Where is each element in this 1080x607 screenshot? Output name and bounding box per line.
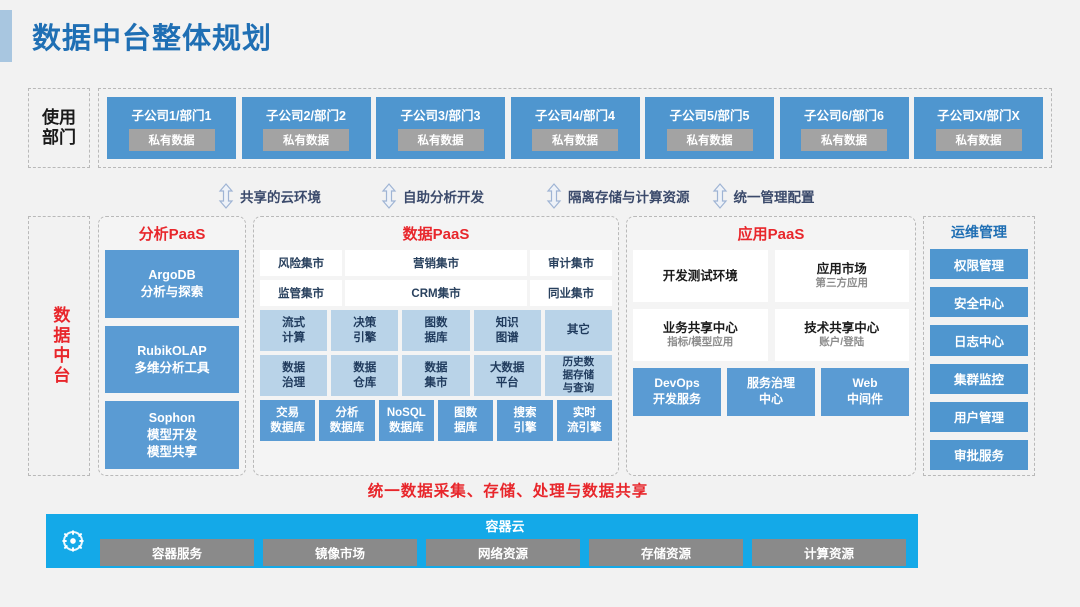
unified-data-banner-text: 统一数据采集、存储、处理与数据共享 [368, 479, 649, 501]
department-card-title: 子公司2/部门2 [266, 105, 346, 124]
department-card-chip: 私有数据 [398, 129, 484, 151]
tile-line2: 引擎 [353, 332, 376, 344]
connector-label: 自助分析开发 [403, 186, 484, 206]
data-capability-tile[interactable]: 流式计算 [260, 310, 327, 351]
app-paas-card[interactable]: 业务共享中心 指标/模型应用 [633, 309, 768, 361]
tile-line2: 据存储 [563, 369, 595, 381]
app-tile-line2: 中间件 [847, 392, 883, 408]
unified-data-banner: 统一数据采集、存储、处理与数据共享 [98, 478, 918, 502]
data-mart[interactable]: 审计集市 [530, 250, 612, 276]
departments-label-text: 使用 部门 [42, 108, 76, 147]
connector-row: 共享的云环境 自助分析开发 隔离存储与计算资源 统一管理配置 [100, 180, 1000, 212]
tile-line1: 数据 [353, 362, 376, 374]
analysis-item-sub: 分析与探索 [141, 284, 204, 301]
container-cloud-chip[interactable]: 存储资源 [589, 539, 743, 566]
analysis-item-name: ArgoDB [148, 267, 195, 284]
app-paas-tile-row: DevOps 开发服务 服务治理 中心 Web 中间件 [633, 368, 909, 416]
ops-item[interactable]: 日志中心 [930, 325, 1028, 355]
department-card[interactable]: 子公司6/部门6 私有数据 [780, 97, 909, 159]
department-card[interactable]: 子公司2/部门2 私有数据 [242, 97, 371, 159]
app-paas-card-row-2: 业务共享中心 指标/模型应用 技术共享中心 账户/登陆 [633, 309, 909, 361]
tile-line1: 分析 [335, 407, 358, 419]
container-cloud-body: 容器云 容器服务 镜像市场 网络资源 存储资源 计算资源 [100, 512, 918, 570]
tile-line2: 引擎 [513, 422, 536, 434]
tile-line2: 数据库 [389, 422, 424, 434]
connector-item: 共享的云环境 [218, 183, 321, 209]
tile-line1: 交易 [276, 407, 299, 419]
platform-region: 数据中台 分析PaaS ArgoDB 分析与探索 RubikOLAP 多维分析工… [28, 216, 1052, 476]
app-card-name: 应用市场 [817, 261, 867, 277]
tile-line2: 仓库 [353, 377, 376, 389]
container-cloud-chip[interactable]: 容器服务 [100, 539, 254, 566]
tile-line3: 与查询 [563, 382, 595, 394]
tile-line1: 图数 [424, 317, 447, 329]
container-cloud-chip[interactable]: 网络资源 [426, 539, 580, 566]
department-card[interactable]: 子公司5/部门5 私有数据 [645, 97, 774, 159]
tile-line2: 据库 [454, 422, 477, 434]
department-card-chip: 私有数据 [667, 129, 753, 151]
department-card-title: 子公司X/部门X [937, 105, 1020, 124]
data-paas-title: 数据PaaS [260, 223, 612, 244]
data-mart-row-2: 监管集市 CRM集市 同业集市 [260, 280, 612, 306]
analysis-item-sub: 多维分析工具 [134, 360, 209, 377]
tile-line1: 数据 [424, 362, 447, 374]
tile-line1: 决策 [353, 317, 376, 329]
tile-line1: 历史数 [563, 356, 595, 368]
departments-band: 使用 部门 子公司1/部门1 私有数据 子公司2/部门2 私有数据 子公司3/部… [28, 88, 1052, 168]
department-card-title: 子公司3/部门3 [401, 105, 481, 124]
department-card[interactable]: 子公司4/部门4 私有数据 [511, 97, 640, 159]
tile-line2: 集市 [424, 377, 447, 389]
department-card-title: 子公司1/部门1 [132, 105, 212, 124]
container-cloud-chip[interactable]: 计算资源 [752, 539, 906, 566]
title-accent-bar [0, 10, 12, 62]
app-paas-tile[interactable]: DevOps 开发服务 [633, 368, 721, 416]
data-mart[interactable]: CRM集市 [345, 280, 527, 306]
data-capability-row-1: 流式计算 决策引擎 图数据库 知识图谱 其它 [260, 310, 612, 351]
tile-line2: 图谱 [496, 332, 519, 344]
tile-line2: 治理 [282, 377, 305, 389]
tile-line2: 流引擎 [567, 422, 602, 434]
data-mart[interactable]: 同业集市 [530, 280, 612, 306]
platform-side-label-text: 数据中台 [50, 306, 69, 386]
connector-label: 共享的云环境 [240, 186, 321, 206]
app-card-name: 业务共享中心 [663, 320, 738, 336]
data-paas-group: 数据PaaS 风险集市 营销集市 审计集市 监管集市 CRM集市 同业集市 流式… [253, 216, 619, 476]
gear-icon [46, 528, 100, 554]
ops-management-group: 运维管理 权限管理 安全中心 日志中心 集群监控 用户管理 审批服务 [923, 216, 1035, 476]
connector-label: 统一管理配置 [734, 186, 815, 206]
data-capability-tile[interactable]: 知识图谱 [474, 310, 541, 351]
data-capability-tile[interactable]: 数据仓库 [331, 355, 398, 396]
app-paas-card[interactable]: 技术共享中心 账户/登陆 [775, 309, 910, 361]
analysis-paas-items: ArgoDB 分析与探索 RubikOLAP 多维分析工具 Sophon 模型开… [105, 250, 239, 469]
app-card-sub: 账户/登陆 [819, 336, 864, 350]
app-paas-card[interactable]: 开发测试环境 [633, 250, 768, 302]
page-title: 数据中台整体规划 [32, 15, 272, 57]
departments-label-line2: 部门 [42, 128, 76, 148]
data-mart-row-1: 风险集市 营销集市 审计集市 [260, 250, 612, 276]
app-card-sub: 第三方应用 [816, 277, 869, 291]
ops-item[interactable]: 审批服务 [930, 440, 1028, 470]
department-card[interactable]: 子公司1/部门1 私有数据 [107, 97, 236, 159]
gear-icon-svg [60, 528, 86, 554]
app-paas-title: 应用PaaS [633, 223, 909, 244]
tile-line1: 其它 [567, 324, 590, 336]
departments-label: 使用 部门 [28, 88, 90, 168]
tile-line1: NoSQL [387, 407, 426, 419]
tile-line1: 知识 [496, 317, 519, 329]
connector-label: 隔离存储与计算资源 [568, 186, 690, 206]
ops-item[interactable]: 安全中心 [930, 287, 1028, 317]
analysis-item-sub2: 模型共享 [147, 444, 197, 461]
app-paas-card-row-1: 开发测试环境 应用市场 第三方应用 [633, 250, 909, 302]
department-card-title: 子公司4/部门4 [535, 105, 615, 124]
slide-canvas: 数据中台整体规划 使用 部门 子公司1/部门1 私有数据 子公司2/部门2 私有… [0, 0, 1080, 607]
container-cloud-title: 容器云 [485, 516, 524, 535]
data-capability-tile[interactable]: 图数据库 [402, 310, 469, 351]
data-storage-tile[interactable]: 图数据库 [438, 400, 493, 441]
double-arrow-icon [381, 183, 397, 209]
department-card-chip: 私有数据 [801, 129, 887, 151]
platform-columns: 分析PaaS ArgoDB 分析与探索 RubikOLAP 多维分析工具 Sop… [98, 216, 1052, 476]
department-card[interactable]: 子公司X/部门X 私有数据 [914, 97, 1043, 159]
ops-item[interactable]: 权限管理 [930, 249, 1028, 279]
app-tile-line1: 服务治理 [747, 376, 795, 392]
tile-line2: 数据库 [270, 422, 305, 434]
container-cloud-chip[interactable]: 镜像市场 [263, 539, 417, 566]
connector-item: 统一管理配置 [712, 183, 815, 209]
tile-line1: 大数据 [490, 362, 525, 374]
app-card-name: 开发测试环境 [663, 268, 738, 284]
app-paas-group: 应用PaaS 开发测试环境 应用市场 第三方应用 业务共享中心 指标/模型应用 [626, 216, 916, 476]
data-mart[interactable]: 风险集市 [260, 250, 342, 276]
data-capability-tile[interactable]: 决策引擎 [331, 310, 398, 351]
data-mart[interactable]: 监管集市 [260, 280, 342, 306]
double-arrow-icon [546, 183, 562, 209]
data-capability-tile[interactable]: 大数据平台 [474, 355, 541, 396]
tile-line2: 计算 [282, 332, 305, 344]
department-card[interactable]: 子公司3/部门3 私有数据 [376, 97, 505, 159]
app-paas-tile[interactable]: Web 中间件 [821, 368, 909, 416]
tile-line2: 数据库 [330, 422, 365, 434]
container-cloud-chips: 容器服务 镜像市场 网络资源 存储资源 计算资源 [100, 539, 910, 570]
ops-item[interactable]: 用户管理 [930, 402, 1028, 432]
container-cloud-bar: 容器云 容器服务 镜像市场 网络资源 存储资源 计算资源 [46, 514, 918, 568]
department-card-chip: 私有数据 [263, 129, 349, 151]
data-capability-row-2: 数据治理 数据仓库 数据集市 大数据平台 历史数据存储与查询 [260, 355, 612, 396]
tile-line1: 流式 [282, 317, 305, 329]
platform-side-label: 数据中台 [28, 216, 90, 476]
tile-line1: 图数 [454, 407, 477, 419]
department-card-chip: 私有数据 [129, 129, 215, 151]
tile-line1: 搜索 [513, 407, 536, 419]
analysis-paas-item[interactable]: Sophon 模型开发 模型共享 [105, 401, 239, 469]
app-tile-line1: Web [852, 376, 877, 392]
data-capability-tile[interactable]: 其它 [545, 310, 612, 351]
title-bar: 数据中台整体规划 [0, 8, 272, 64]
data-storage-tile[interactable]: 交易数据库 [260, 400, 315, 441]
connector-item: 隔离存储与计算资源 [546, 183, 690, 209]
tile-line2: 据库 [424, 332, 447, 344]
analysis-paas-title: 分析PaaS [105, 223, 239, 244]
data-capability-tile[interactable]: 历史数据存储与查询 [545, 355, 612, 396]
department-card-title: 子公司6/部门6 [804, 105, 884, 124]
data-storage-tile[interactable]: 搜索引擎 [497, 400, 552, 441]
analysis-paas-item[interactable]: ArgoDB 分析与探索 [105, 250, 239, 318]
data-mart[interactable]: 营销集市 [345, 250, 527, 276]
tile-line1: 数据 [282, 362, 305, 374]
double-arrow-icon [712, 183, 728, 209]
app-card-name: 技术共享中心 [804, 320, 879, 336]
double-arrow-icon [218, 183, 234, 209]
departments-cards: 子公司1/部门1 私有数据 子公司2/部门2 私有数据 子公司3/部门3 私有数… [98, 88, 1052, 168]
app-tile-line2: 中心 [759, 392, 783, 408]
analysis-item-sub: 模型开发 [147, 427, 197, 444]
ops-management-items: 权限管理 安全中心 日志中心 集群监控 用户管理 审批服务 [930, 249, 1028, 470]
analysis-paas-group: 分析PaaS ArgoDB 分析与探索 RubikOLAP 多维分析工具 Sop… [98, 216, 246, 476]
department-card-chip: 私有数据 [532, 129, 618, 151]
data-storage-tile[interactable]: 分析数据库 [319, 400, 374, 441]
departments-label-line1: 使用 [42, 108, 76, 128]
data-storage-tile[interactable]: 实时流引擎 [557, 400, 612, 441]
data-capability-tile[interactable]: 数据治理 [260, 355, 327, 396]
data-capability-tile[interactable]: 数据集市 [402, 355, 469, 396]
data-storage-tile[interactable]: NoSQL数据库 [379, 400, 434, 441]
tile-line1: 实时 [573, 407, 596, 419]
connector-item: 自助分析开发 [381, 183, 484, 209]
ops-item[interactable]: 集群监控 [930, 364, 1028, 394]
app-tile-line1: DevOps [654, 376, 699, 392]
department-card-chip: 私有数据 [936, 129, 1022, 151]
analysis-item-name: Sophon [149, 410, 196, 427]
analysis-paas-item[interactable]: RubikOLAP 多维分析工具 [105, 326, 239, 394]
department-card-title: 子公司5/部门5 [670, 105, 750, 124]
analysis-item-name: RubikOLAP [137, 343, 206, 360]
app-paas-tile[interactable]: 服务治理 中心 [727, 368, 815, 416]
app-tile-line2: 开发服务 [653, 392, 701, 408]
app-paas-card[interactable]: 应用市场 第三方应用 [775, 250, 910, 302]
tile-line2: 平台 [496, 377, 519, 389]
data-storage-row: 交易数据库 分析数据库 NoSQL数据库 图数据库 搜索引擎 [260, 400, 612, 441]
ops-management-title: 运维管理 [930, 222, 1028, 242]
app-card-sub: 指标/模型应用 [667, 336, 733, 350]
